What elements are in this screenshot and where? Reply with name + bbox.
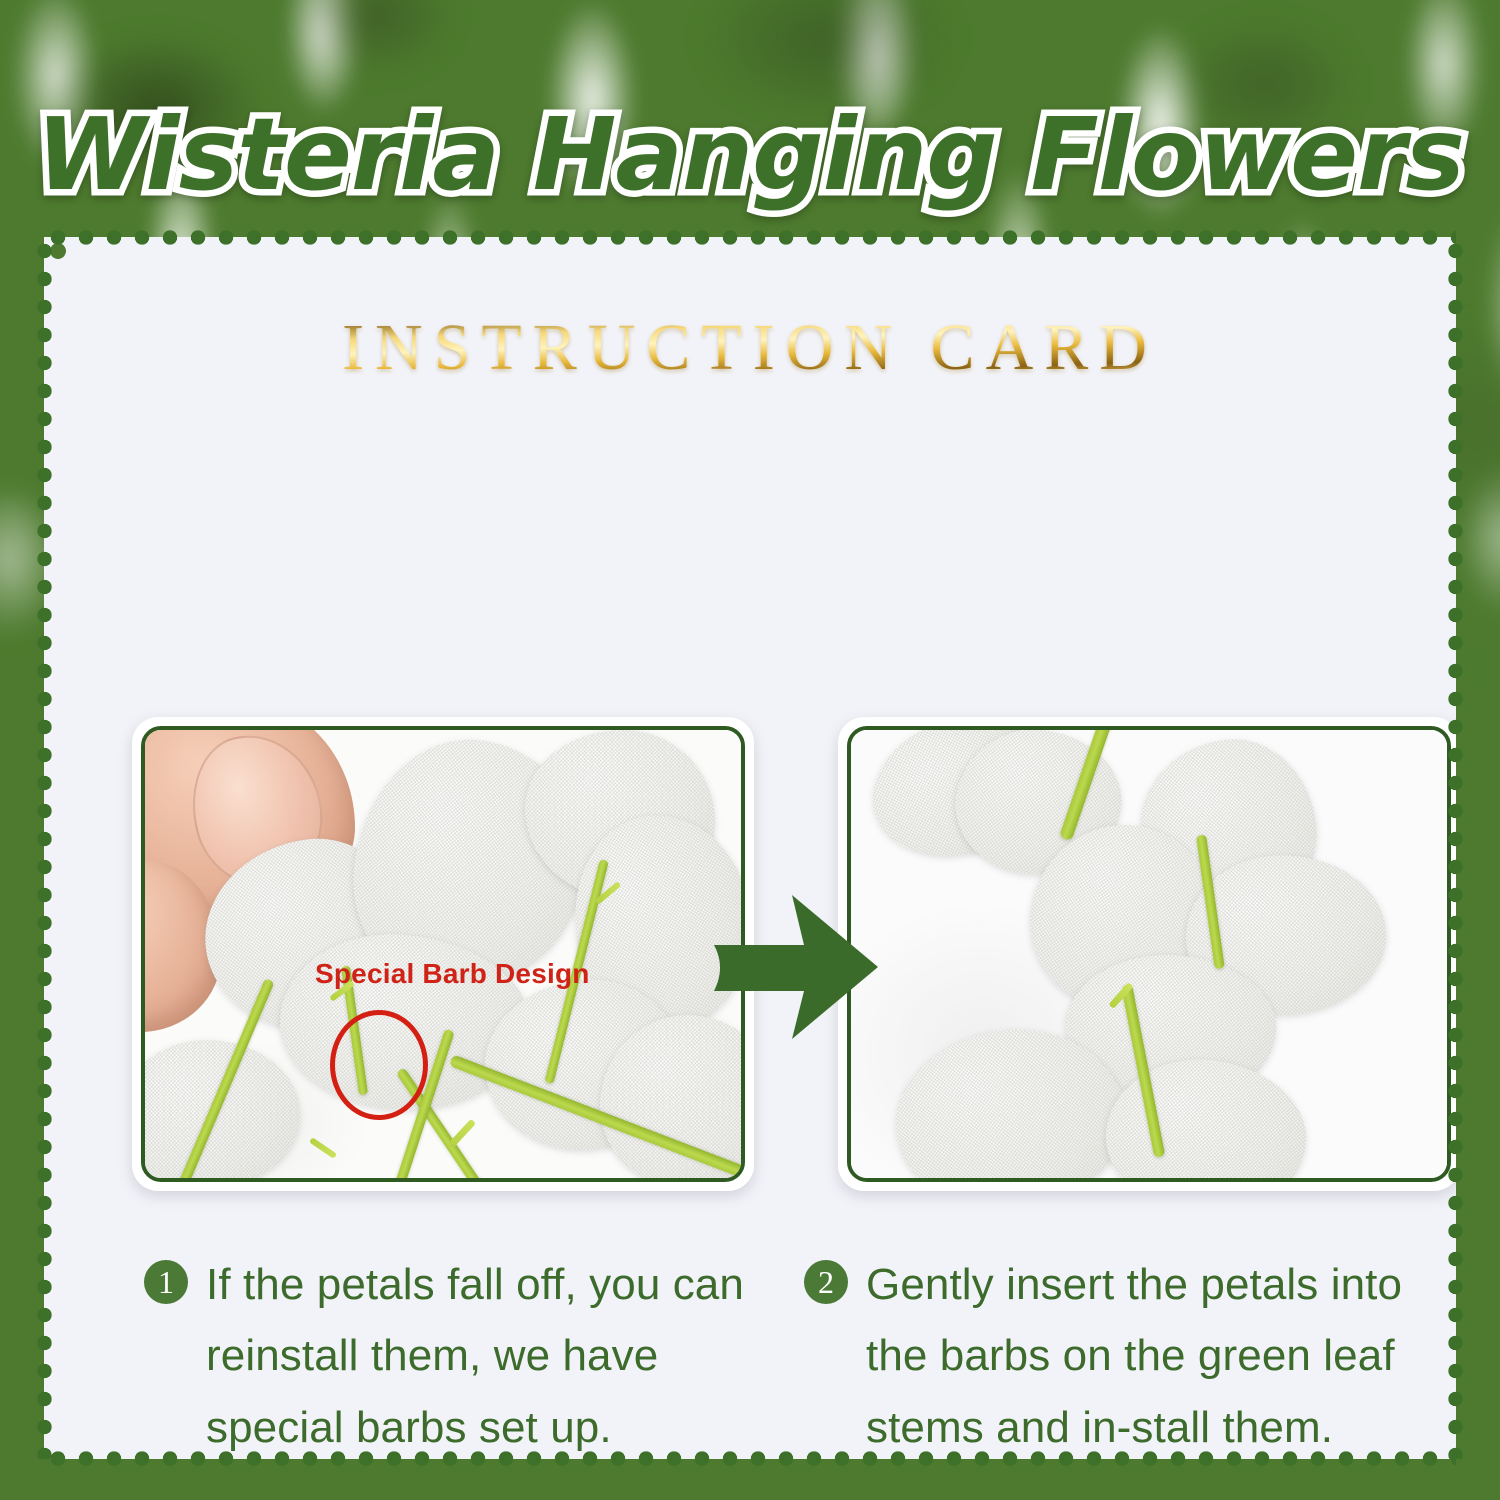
title-banner: Wisteria Hanging Flowers: [0, 96, 1500, 213]
card-heading: INSTRUCTION CARD: [44, 310, 1456, 386]
step-number-badge: 2: [804, 1260, 848, 1304]
annotation-circle: [330, 1010, 428, 1120]
step-item-1: 1 If the petals fall off, you can reinst…: [44, 1249, 756, 1463]
photo-petals-installed-closeup: [838, 717, 1460, 1191]
product-instruction-card-image: Wisteria Hanging Flowers INSTRUCTION CAR…: [0, 0, 1500, 1500]
steps-list: 1 If the petals fall off, you can reinst…: [44, 1249, 1456, 1463]
step-text: If the petals fall off, you can reinstal…: [206, 1249, 746, 1463]
step-text: Gently insert the petals into the barbs …: [866, 1249, 1406, 1463]
photo-petal-barb-closeup: Special Barb Design: [132, 717, 754, 1191]
annotation-label: Special Barb Design: [315, 958, 590, 990]
green-right-arrow-icon: [708, 887, 884, 1047]
instruction-card-panel: INSTRUCTION CARD: [44, 237, 1456, 1459]
step-item-2: 2 Gently insert the petals into the barb…: [756, 1249, 1456, 1463]
step-number-badge: 1: [144, 1260, 188, 1304]
page-title: Wisteria Hanging Flowers: [36, 96, 1464, 213]
